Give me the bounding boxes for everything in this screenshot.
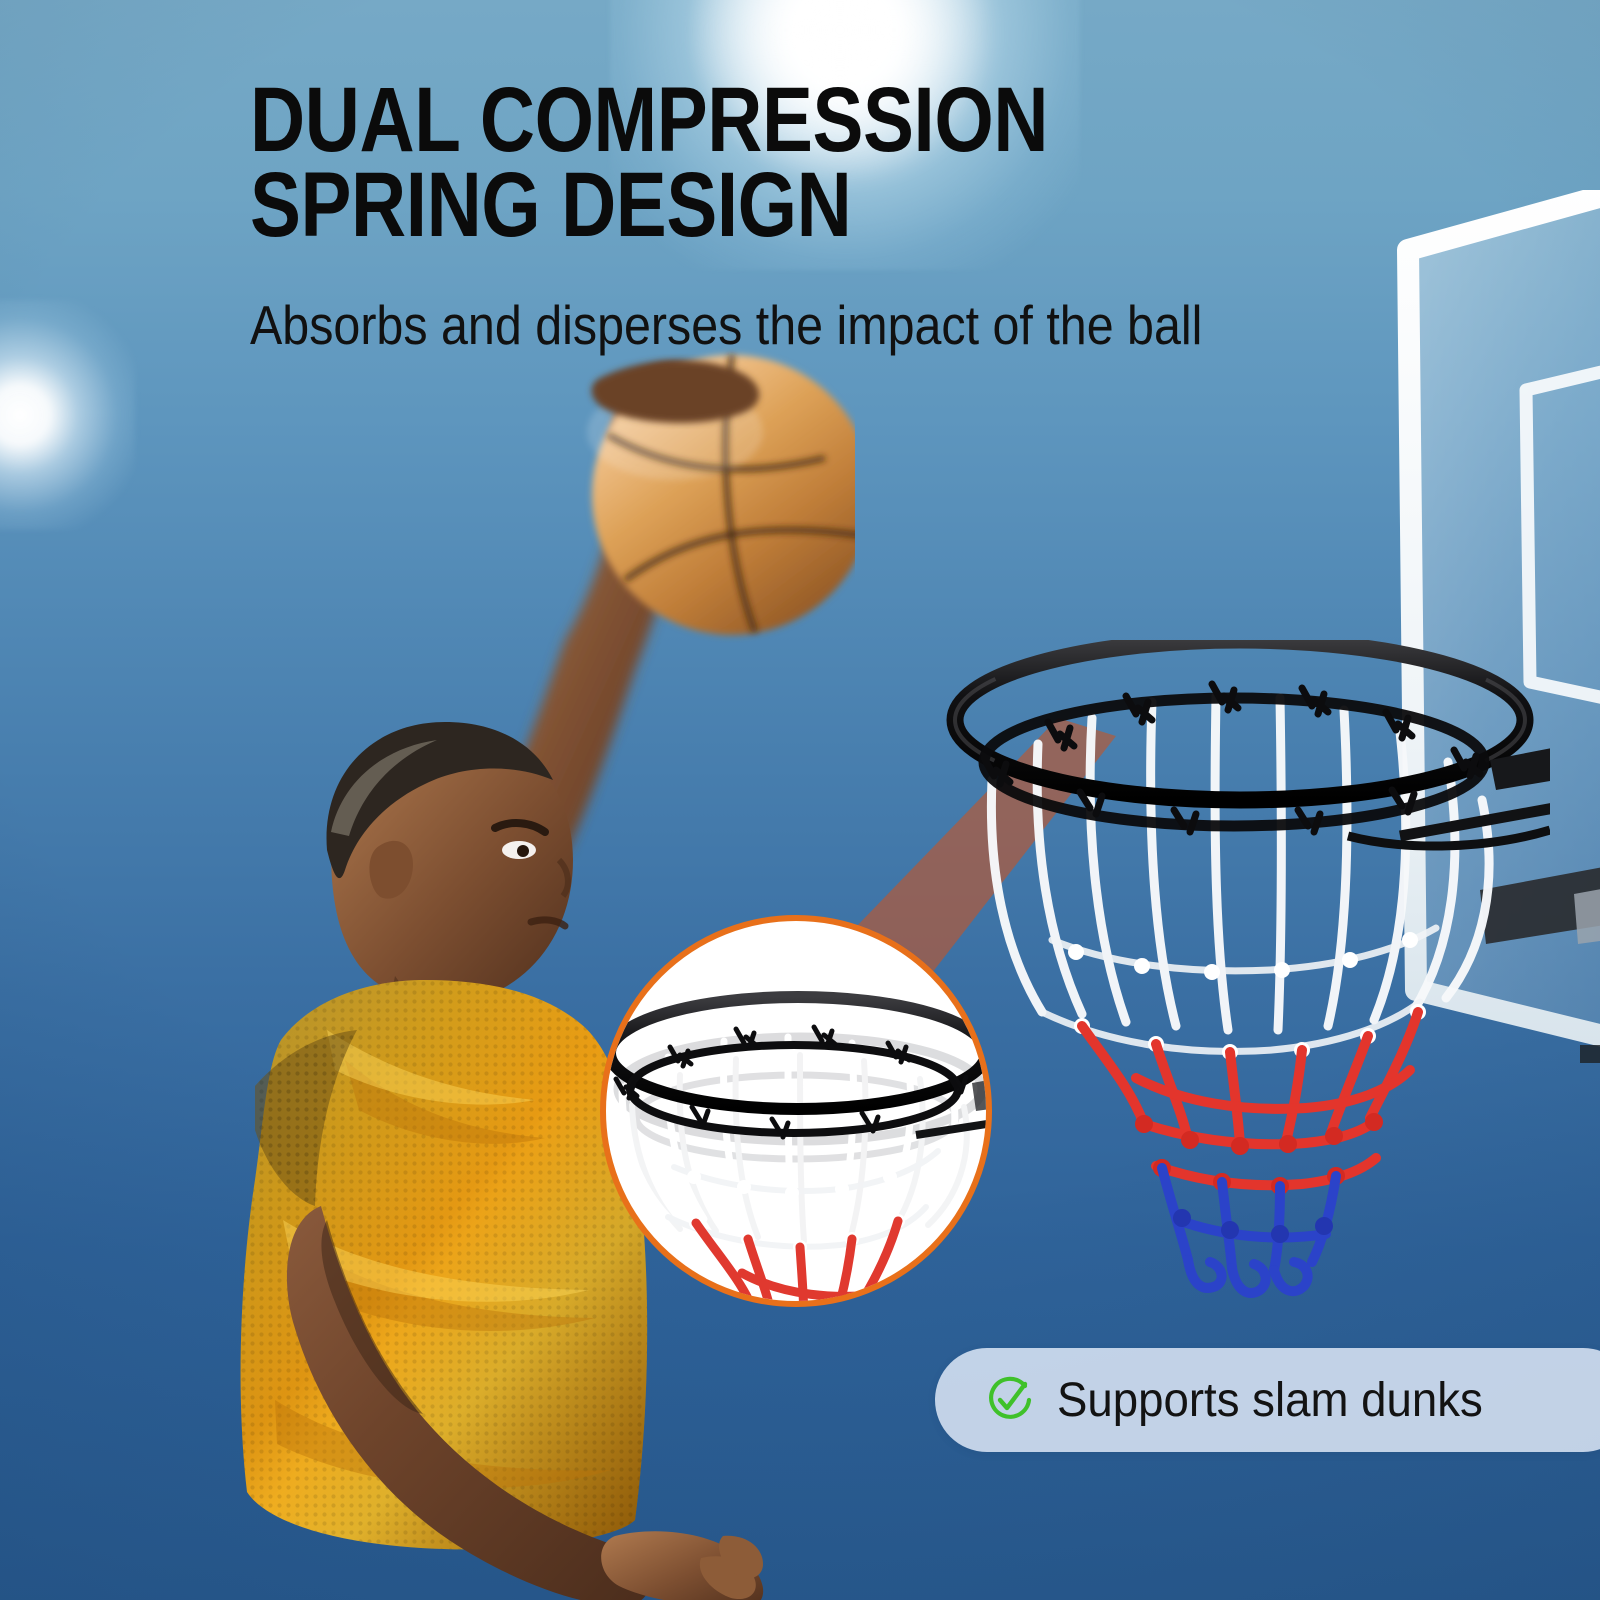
promo-banner: DUAL COMPRESSION SPRING DESIGN Absorbs a… — [0, 0, 1600, 1600]
feature-badge: Supports slam dunks — [935, 1348, 1600, 1452]
page-title: DUAL COMPRESSION SPRING DESIGN — [250, 78, 1229, 247]
feature-badge-label: Supports slam dunks — [1057, 1373, 1483, 1428]
page-subtitle: Absorbs and disperses the impact of the … — [250, 297, 1482, 355]
check-circle-icon — [985, 1375, 1035, 1425]
basketball-rim-and-net — [930, 640, 1550, 1300]
zoom-callout-circle — [600, 915, 992, 1307]
